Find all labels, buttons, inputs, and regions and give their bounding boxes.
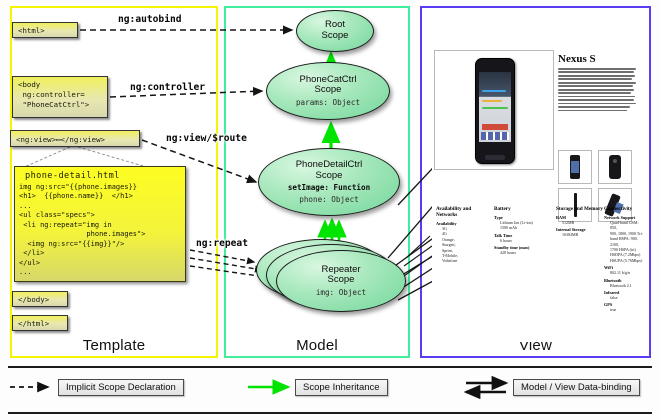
spec-header-storage: Storage and Memory [556, 206, 604, 212]
scope-root-name: Root Scope [322, 20, 349, 41]
spec-values-wifi: 802.11 b/g/n [610, 270, 644, 275]
scope-phonecatctrl: PhoneCatCtrl Scope params: Object [266, 62, 390, 120]
legend-label-scope-inheritance: Scope Inheritance [295, 379, 388, 396]
spec-header-battery: Battery [494, 206, 552, 212]
edge-label-ng-controller: ng:controller [130, 82, 205, 93]
scope-root: Root Scope [296, 10, 374, 52]
scope-phonecatctrl-name: PhoneCatCtrl Scope [299, 75, 356, 96]
tag-html-close: </html> [12, 315, 68, 331]
scope-phonedetailctrl-prop-setimage: setImage: Function [288, 183, 370, 192]
sticky-note-phone-detail: phone-detail.html img ng:src="{{phone.im… [14, 166, 186, 282]
scope-repeater-prop-img: img: Object [316, 288, 366, 297]
view-thumbnail-2[interactable] [598, 150, 632, 184]
edge-label-ng-repeat: ng:repeat [196, 238, 248, 249]
note-code: img ng:src="{{phone.images}} <h1> {{phon… [15, 183, 185, 277]
phone-device-illustration [475, 58, 515, 164]
phone-screen [479, 72, 511, 142]
spec-values-internal: 16384MB [562, 232, 604, 237]
tag-body-open: <body ng:controller= "PhoneCatCtrl"> [12, 76, 108, 118]
legend-label-model-view-data-binding: Model / View Data-binding [513, 379, 640, 396]
spec-values-infrared: false [610, 295, 644, 300]
scope-phonedetailctrl-prop-phone: phone: Object [299, 195, 358, 204]
view-spec-table: Availability and Networks Availability 3… [434, 206, 638, 292]
spec-values-gps: true [610, 307, 644, 312]
scope-phonecatctrl-prop-params: params: Object [296, 98, 360, 107]
edge-label-ng-view-route: ng:view/$route [166, 133, 247, 144]
spec-values-battery-type: Lithium Ion (Li-ion)1500 mAh [500, 220, 552, 231]
diagram-canvas: Template Model View [0, 0, 660, 420]
scope-phonedetailctrl: PhoneDetailCtrl Scope setImage: Function… [258, 148, 400, 216]
legend-rule-bottom [8, 412, 652, 414]
legend: Implicit Scope Declaration Scope Inherit… [0, 362, 660, 420]
view-rendered-page: Nexus S Availability and Netwo [432, 14, 640, 342]
tag-ng-view: <ng:view>▭</ng:view> [10, 130, 140, 147]
spec-values-battery-standby: 428 hours [500, 250, 552, 255]
legend-label-implicit-scope-declaration: Implicit Scope Declaration [58, 379, 184, 396]
scope-repeater: Repeater Scope img: Object [276, 250, 406, 312]
note-title: phone-detail.html [15, 167, 185, 183]
spec-values-bluetooth: Bluetooth 2.1 [610, 283, 644, 288]
view-product-description [558, 68, 636, 113]
spec-values-battery-talk: 6 hours [500, 238, 552, 243]
panel-template-label: Template [12, 337, 216, 354]
view-thumbnail-1[interactable] [558, 150, 592, 184]
spec-values-network: Quad-band GSM: 850,900, 1800, 1900 Tri-b… [610, 220, 644, 263]
spec-header-availability: Availability and Networks [436, 206, 480, 218]
tag-html-open: <html> [12, 22, 78, 38]
scope-phonedetailctrl-name: PhoneDetailCtrl Scope [296, 160, 363, 181]
scope-repeater-name: Repeater Scope [321, 265, 360, 286]
panel-model-label: Model [226, 337, 408, 354]
legend-rule-top [8, 366, 652, 368]
tag-body-close: </body> [12, 291, 68, 307]
legend-symbol-double-arrow [466, 383, 506, 392]
edge-label-ng-autobind: ng:autobind [118, 14, 182, 25]
spec-values-availability: 3G4GOrange,Sturgeit,Sprint,T-Mobile,Voda… [442, 226, 480, 264]
spec-values-ram: 512MB [562, 220, 604, 225]
view-product-title: Nexus S [558, 53, 596, 65]
phone-hero-image-frame [434, 50, 554, 170]
spec-header-connectivity: Connectivity [604, 206, 644, 212]
